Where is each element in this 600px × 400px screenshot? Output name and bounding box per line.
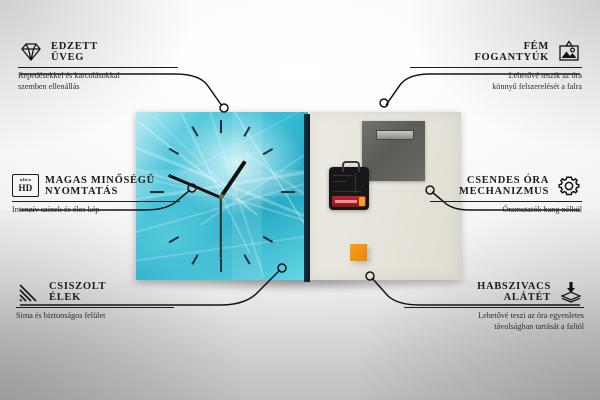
callout-title-line-1: MAGAS MINŐSÉGŰ — [45, 175, 155, 186]
gear-icon — [556, 174, 582, 198]
quartz-clock-movement — [329, 167, 369, 210]
foam-pad-press-icon — [558, 280, 584, 304]
callout-high-quality-print[interactable]: ultra HD MAGAS MINŐSÉGŰ NYOMTATÁS Intenz… — [12, 174, 180, 216]
orange-foam-spacer-pad — [350, 244, 367, 261]
callout-subtitle: Óramutatók hang nélkül — [430, 205, 582, 216]
callout-subtitle-line-2: távolságban tartását a faltól — [404, 322, 584, 333]
polished-edge-icon — [16, 280, 42, 304]
callout-title-line-1: EDZETT — [51, 41, 98, 52]
hanger-slot — [376, 130, 414, 140]
callout-title-line-1: HABSZIVACS — [477, 281, 551, 292]
callout-subtitle-line-1: Lehetővé teszik az óra — [410, 71, 582, 82]
callout-subtitle: Lehetővé teszi az óra egyenletes távolsá… — [404, 311, 584, 333]
callout-divider — [12, 201, 180, 202]
aa-battery — [332, 196, 366, 207]
callout-metal-handles[interactable]: FÉM FOGANTYÚK Lehetővé teszik az óra kön… — [410, 40, 582, 93]
callout-subtitle: Lehetővé teszik az óra könnyű felszerelé… — [410, 71, 582, 93]
callout-subtitle-line-1: Intenzív színek és éles kép — [12, 205, 180, 216]
callout-subtitle-line-1: Lehetővé teszi az óra egyenletes — [404, 311, 584, 322]
ultra-hd-icon: ultra HD — [12, 174, 38, 198]
callout-title-line-2: ÉLEK — [49, 292, 81, 303]
callout-subtitle: Intenzív színek és éles kép — [12, 205, 180, 216]
callout-divider — [410, 67, 582, 68]
product-image — [136, 112, 461, 280]
diamond-icon — [18, 40, 44, 64]
ultra-hd-icon-bottom-text: HD — [19, 184, 33, 193]
callout-subtitle: Repedésekkel és karcolásokkal szemben el… — [18, 71, 178, 93]
callout-title-line-2: MECHANIZMUS — [459, 186, 549, 197]
callout-title-line-1: CSISZOLT — [49, 281, 106, 292]
callout-title-line-1: CSENDES ÓRA — [467, 175, 549, 186]
clock-center-pin — [219, 194, 224, 199]
callout-divider — [18, 67, 178, 68]
callout-divider — [16, 307, 174, 308]
callout-title-line-2: FOGANTYÚK — [474, 52, 549, 63]
callout-subtitle-line-1: Sima és biztonságos felület — [16, 311, 174, 322]
callout-polished-edges[interactable]: CSISZOLT ÉLEK Sima és biztonságos felüle… — [16, 280, 174, 322]
picture-frame-hanger-icon — [556, 40, 582, 64]
infographic-canvas: EDZETT ÜVEG Repedésekkel és karcolásokka… — [0, 0, 600, 400]
callout-tempered-glass[interactable]: EDZETT ÜVEG Repedésekkel és karcolásokka… — [18, 40, 178, 93]
callout-foam-backing[interactable]: HABSZIVACS ALÁTÉT Lehetővé teszi az óra … — [404, 280, 584, 333]
callout-title-line-2: ALÁTÉT — [504, 292, 551, 303]
callout-silent-mechanism[interactable]: CSENDES ÓRA MECHANIZMUS Óramutatók hang … — [430, 174, 582, 216]
metal-hanger-plate — [362, 121, 425, 181]
callout-divider — [404, 307, 584, 308]
callout-title-line-1: FÉM — [524, 41, 549, 52]
callout-subtitle-line-2: könnyű felszerelését a falra — [410, 82, 582, 93]
callout-divider — [430, 201, 582, 202]
callout-subtitle: Sima és biztonságos felület — [16, 311, 174, 322]
callout-title-line-2: NYOMTATÁS — [45, 186, 118, 197]
movement-hanger-loop — [342, 161, 360, 172]
callout-subtitle-line-1: Repedésekkel és karcolásokkal — [18, 71, 178, 82]
callout-title-line-2: ÜVEG — [51, 52, 84, 63]
callout-subtitle-line-2: szemben ellenállás — [18, 82, 178, 93]
callout-subtitle-line-1: Óramutatók hang nélkül — [430, 205, 582, 216]
clock-second-hand — [220, 197, 222, 259]
